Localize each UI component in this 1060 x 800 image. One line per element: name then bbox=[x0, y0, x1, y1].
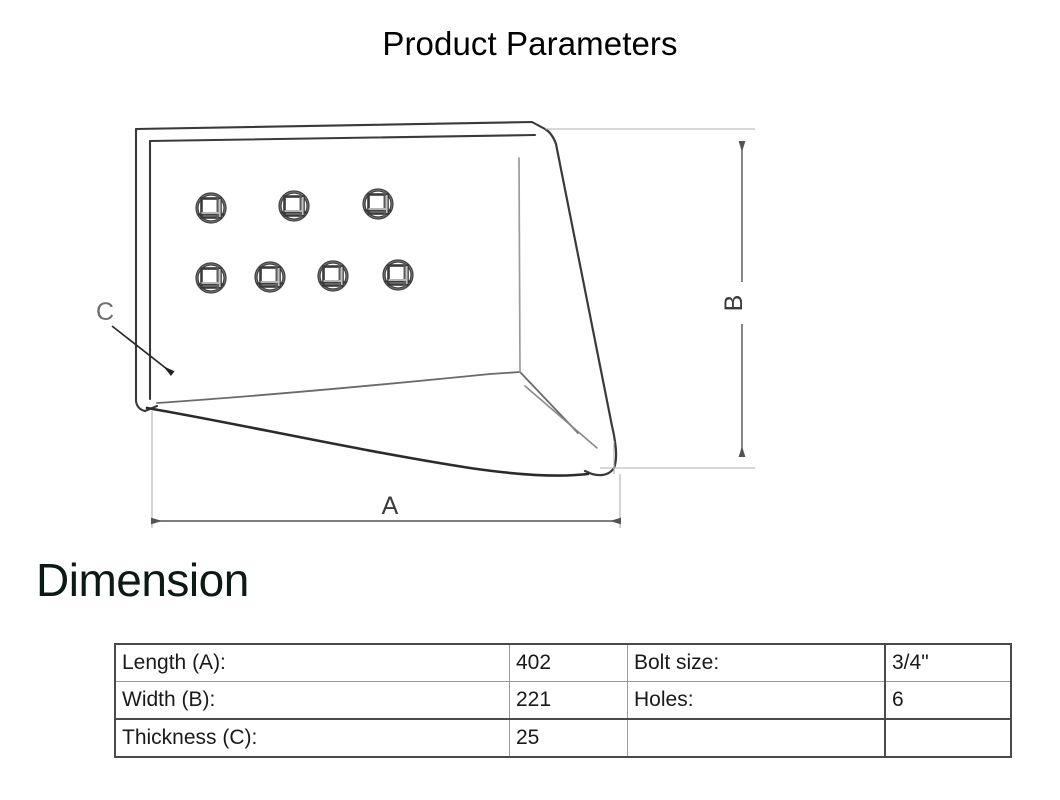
dimension-line-a: A bbox=[152, 492, 620, 521]
table-cell-value2 bbox=[885, 719, 1011, 757]
bolt-hole bbox=[319, 262, 347, 290]
bolt-hole bbox=[280, 192, 308, 220]
table-cell-label2 bbox=[628, 719, 886, 757]
drawing-canvas: A B C bbox=[0, 96, 1060, 546]
blade-nose-crease bbox=[525, 386, 597, 448]
table-cell-label: Length (A): bbox=[115, 644, 510, 682]
dimension-label-c: C bbox=[96, 298, 114, 326]
blade-bend-line bbox=[157, 372, 578, 433]
blade-cutting-profile bbox=[147, 408, 588, 476]
table-cell-value: 221 bbox=[510, 682, 628, 720]
table-cell-label2: Bolt size: bbox=[628, 644, 886, 682]
bolt-hole-group-top-row bbox=[197, 190, 392, 222]
table-cell-label2: Holes: bbox=[628, 682, 886, 720]
table-cell-label: Width (B): bbox=[115, 682, 510, 720]
bolt-hole bbox=[384, 261, 412, 289]
table-cell-value2: 6 bbox=[885, 682, 1011, 720]
technical-drawing: A B C bbox=[0, 96, 1060, 546]
dimension-extension-lines bbox=[152, 129, 755, 528]
dimension-table-container: Length (A): 402 Bolt size: 3/4" Width (B… bbox=[114, 643, 980, 758]
blade-nose-profile bbox=[545, 129, 616, 475]
table-row: Thickness (C): 25 bbox=[115, 719, 1011, 757]
bolt-hole bbox=[197, 194, 225, 222]
table-row: Width (B): 221 Holes: 6 bbox=[115, 682, 1011, 720]
section-heading-dimension: Dimension bbox=[36, 552, 249, 608]
table-cell-value: 402 bbox=[510, 644, 628, 682]
table-cell-label: Thickness (C): bbox=[115, 719, 510, 757]
bolt-hole bbox=[197, 264, 225, 292]
dimension-label-b: B bbox=[720, 295, 748, 312]
dimension-label-a: A bbox=[382, 492, 399, 520]
bolt-hole-group-bottom-row bbox=[197, 261, 412, 292]
table-cell-value: 25 bbox=[510, 719, 628, 757]
table-row: Length (A): 402 Bolt size: 3/4" bbox=[115, 644, 1011, 682]
bolt-hole bbox=[364, 190, 392, 218]
dimension-line-b: B bbox=[720, 142, 748, 456]
blade-internal-fold-line bbox=[519, 158, 520, 372]
table-cell-value2: 3/4" bbox=[885, 644, 1011, 682]
bolt-hole bbox=[256, 263, 284, 291]
dimension-table: Length (A): 402 Bolt size: 3/4" Width (B… bbox=[114, 643, 1012, 758]
dimension-leader-c: C bbox=[96, 298, 172, 373]
page-title: Product Parameters bbox=[0, 24, 1060, 64]
